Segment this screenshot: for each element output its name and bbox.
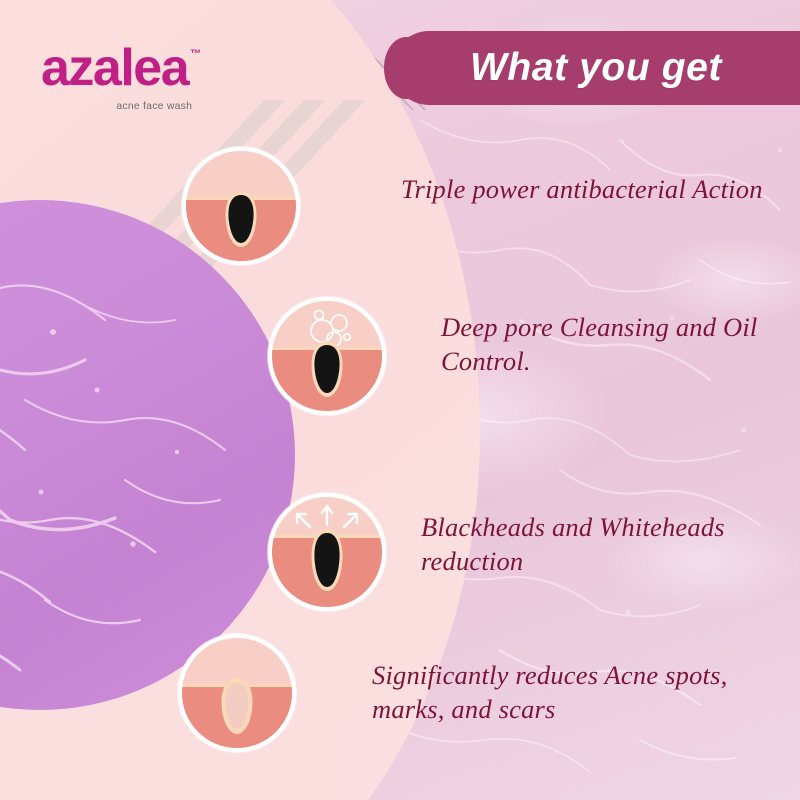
feature-text-4: Significantly reduces Acne spots, marks,… — [372, 658, 772, 727]
pore-clear-icon — [178, 634, 296, 752]
purple-marble-texture — [0, 200, 295, 710]
promo-graphic: What you get azalea ™ acne face wash Tri… — [0, 0, 800, 800]
feature-text-3: Blackheads and Whiteheads reduction — [421, 510, 800, 579]
pore-arrows-illustration — [272, 497, 382, 607]
brand-name: azalea — [41, 44, 188, 93]
brand-tagline: acne face wash — [116, 100, 192, 112]
brand-logo: azalea ™ acne face wash — [41, 44, 188, 93]
pore-arrows-icon — [268, 493, 386, 611]
page-title: What you get — [392, 31, 800, 105]
trademark-symbol: ™ — [190, 48, 201, 60]
feature-text-1: Triple power antibacterial Action — [401, 172, 781, 206]
pore-blackhead-icon — [182, 147, 300, 265]
pore-bubbles-icon — [268, 297, 386, 415]
pore-bubbles-illustration — [272, 301, 382, 411]
pore-clear-illustration — [182, 638, 292, 748]
pore-blackhead-illustration — [186, 151, 296, 261]
purple-marble-circle — [0, 200, 295, 710]
feature-text-2: Deep pore Cleansing and Oil Control. — [441, 310, 796, 379]
